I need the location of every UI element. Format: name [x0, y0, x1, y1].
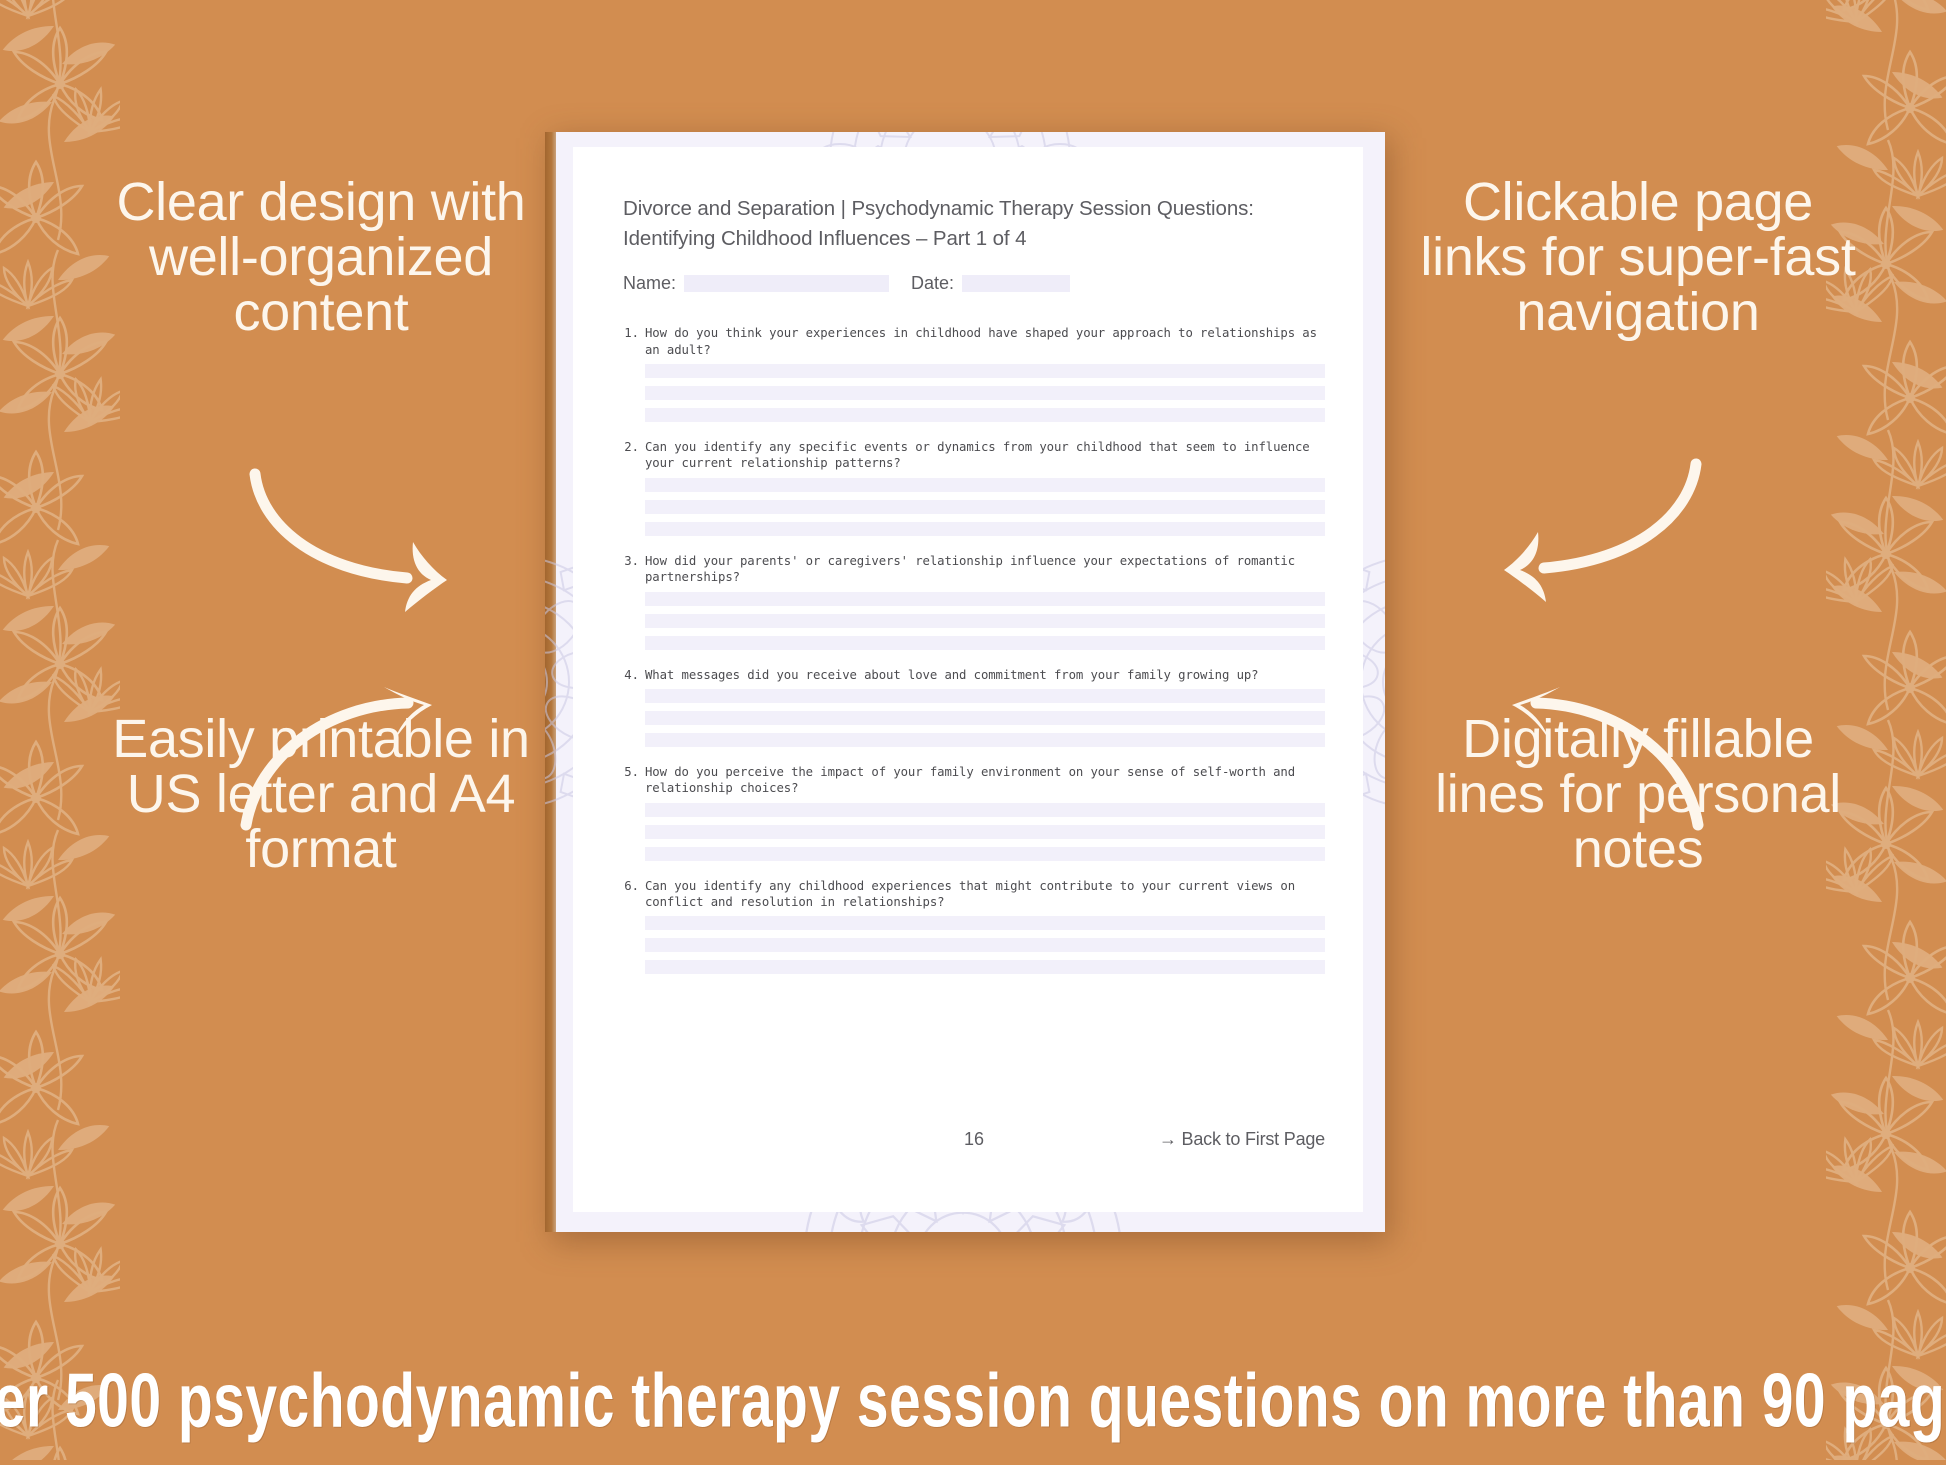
name-label: Name:: [623, 273, 676, 294]
questions-list: 1.How do you think your experiences in c…: [623, 325, 1325, 974]
question-number: 1.: [623, 325, 645, 358]
date-input[interactable]: [962, 275, 1070, 292]
question-block: 6.Can you identify any childhood experie…: [623, 878, 1325, 975]
page-binding-edge: [545, 132, 556, 1232]
question-row: 2.Can you identify any specific events o…: [623, 439, 1325, 472]
answer-line[interactable]: [645, 614, 1325, 628]
page-number: 16: [964, 1129, 984, 1150]
question-number: 2.: [623, 439, 645, 472]
annotation-fillable-lines: Digitally fillable lines for personal no…: [1418, 712, 1858, 877]
bottom-banner: Over 500 psychodynamic therapy session q…: [0, 1342, 1946, 1460]
annotation-clear-design: Clear design with well-organized content: [101, 175, 541, 340]
answer-line[interactable]: [645, 478, 1325, 492]
answer-line[interactable]: [645, 825, 1325, 839]
question-text: What messages did you receive about love…: [645, 667, 1258, 683]
worksheet-content: Divorce and Separation | Psychodynamic T…: [623, 194, 1325, 991]
curved-arrow-icon-top-left: [235, 462, 475, 622]
answer-line[interactable]: [645, 364, 1325, 378]
annotation-clickable-links: Clickable page links for super-fast navi…: [1418, 175, 1858, 340]
question-number: 5.: [623, 764, 645, 797]
question-block: 4.What messages did you receive about lo…: [623, 667, 1325, 747]
worksheet-title-line-2: Identifying Childhood Influences – Part …: [623, 224, 1325, 254]
question-row: 4.What messages did you receive about lo…: [623, 667, 1325, 683]
answer-line[interactable]: [645, 938, 1325, 952]
banner-text: Over 500 psychodynamic therapy session q…: [0, 1358, 1946, 1445]
answer-line[interactable]: [645, 711, 1325, 725]
question-number: 6.: [623, 878, 645, 911]
question-text: How do you perceive the impact of your f…: [645, 764, 1325, 797]
answer-line[interactable]: [645, 522, 1325, 536]
answer-lines-group: [645, 364, 1325, 422]
question-text: How did your parents' or caregivers' rel…: [645, 553, 1325, 586]
worksheet-title-line-1: Divorce and Separation | Psychodynamic T…: [623, 194, 1325, 224]
question-block: 3.How did your parents' or caregivers' r…: [623, 553, 1325, 650]
question-row: 3.How did your parents' or caregivers' r…: [623, 553, 1325, 586]
question-text: Can you identify any specific events or …: [645, 439, 1325, 472]
question-row: 1.How do you think your experiences in c…: [623, 325, 1325, 358]
worksheet-sheet: Divorce and Separation | Psychodynamic T…: [573, 147, 1363, 1212]
worksheet-title: Divorce and Separation | Psychodynamic T…: [623, 194, 1325, 253]
answer-line[interactable]: [645, 386, 1325, 400]
name-input[interactable]: [684, 275, 889, 292]
back-to-first-page-link[interactable]: → Back to First Page: [1159, 1129, 1325, 1150]
answer-line[interactable]: [645, 636, 1325, 650]
answer-lines-group: [645, 689, 1325, 747]
answer-lines-group: [645, 803, 1325, 861]
question-number: 4.: [623, 667, 645, 683]
question-row: 5.How do you perceive the impact of your…: [623, 764, 1325, 797]
question-block: 5.How do you perceive the impact of your…: [623, 764, 1325, 861]
answer-line[interactable]: [645, 408, 1325, 422]
answer-line[interactable]: [645, 960, 1325, 974]
answer-line[interactable]: [645, 689, 1325, 703]
date-label: Date:: [911, 273, 954, 294]
answer-line[interactable]: [645, 733, 1325, 747]
answer-lines-group: [645, 916, 1325, 974]
question-text: Can you identify any childhood experienc…: [645, 878, 1325, 911]
worksheet-footer: 16 → Back to First Page: [623, 1129, 1325, 1150]
answer-line[interactable]: [645, 916, 1325, 930]
question-block: 1.How do you think your experiences in c…: [623, 325, 1325, 422]
question-text: How do you think your experiences in chi…: [645, 325, 1325, 358]
answer-lines-group: [645, 478, 1325, 536]
worksheet-meta-row: Name: Date:: [623, 273, 1325, 294]
curved-arrow-icon-top-right: [1476, 452, 1716, 612]
document-page: Divorce and Separation | Psychodynamic T…: [545, 132, 1385, 1232]
answer-line[interactable]: [645, 500, 1325, 514]
answer-line[interactable]: [645, 847, 1325, 861]
question-block: 2.Can you identify any specific events o…: [623, 439, 1325, 536]
answer-lines-group: [645, 592, 1325, 650]
question-number: 3.: [623, 553, 645, 586]
answer-line[interactable]: [645, 592, 1325, 606]
answer-line[interactable]: [645, 803, 1325, 817]
annotation-easily-printable: Easily printable in US letter and A4 for…: [101, 712, 541, 877]
question-row: 6.Can you identify any childhood experie…: [623, 878, 1325, 911]
